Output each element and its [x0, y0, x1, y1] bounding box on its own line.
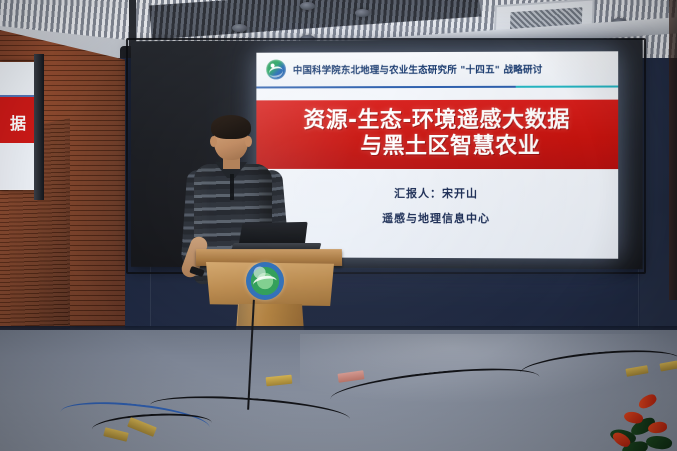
- red-anthurium-plant: [608, 392, 677, 451]
- slide-title-line-2: 与黑土区智慧农业: [256, 133, 618, 159]
- slide-header: 中国科学院东北地理与农业生态研究所 "十四五" 战略研讨: [256, 51, 618, 86]
- plant-leaf: [645, 434, 673, 451]
- side-monitor-bezel: [34, 54, 44, 200]
- presentation-slide: 中国科学院东北地理与农业生态研究所 "十四五" 战略研讨 资源-生态-环境遥感大…: [256, 51, 618, 258]
- slide-presenter-name: 汇报人：宋开山: [256, 185, 618, 202]
- plant-bloom: [647, 421, 667, 434]
- presenter-hair: [211, 115, 251, 139]
- wood-trim-right: [669, 0, 677, 300]
- plant-bloom: [637, 392, 659, 411]
- cas-globe-logo-icon: [266, 60, 286, 80]
- slide-spacer: [256, 88, 618, 101]
- side-display-monitor[interactable]: 据: [0, 62, 36, 190]
- slide-organization-line: 中国科学院东北地理与农业生态研究所 "十四五" 战略研讨: [293, 62, 543, 77]
- downlight-icon: [232, 24, 247, 32]
- downlight-icon: [355, 9, 370, 17]
- presenter-placket: [230, 174, 234, 200]
- slide-department-name: 遥感与地理信息中心: [256, 210, 618, 227]
- globe-leaf-emblem-icon: [246, 262, 284, 300]
- side-monitor-header: [0, 62, 36, 95]
- downlight-icon: [300, 2, 315, 10]
- slide-title-line-1: 资源-生态-环境遥感大数据: [256, 108, 618, 134]
- slide-title-band: 资源-生态-环境遥感大数据 与黑土区智慧农业: [256, 100, 618, 170]
- presenter-ear-right: [245, 136, 252, 147]
- presenter-ear-left: [210, 136, 217, 147]
- conference-hall-photo: 据 中国科学院东北地理与农业生态研究所 "十四五" 战略研讨 资源-生态-环境遥…: [0, 0, 677, 451]
- side-monitor-glyph: 据: [0, 116, 36, 132]
- side-monitor-footer: [0, 143, 36, 189]
